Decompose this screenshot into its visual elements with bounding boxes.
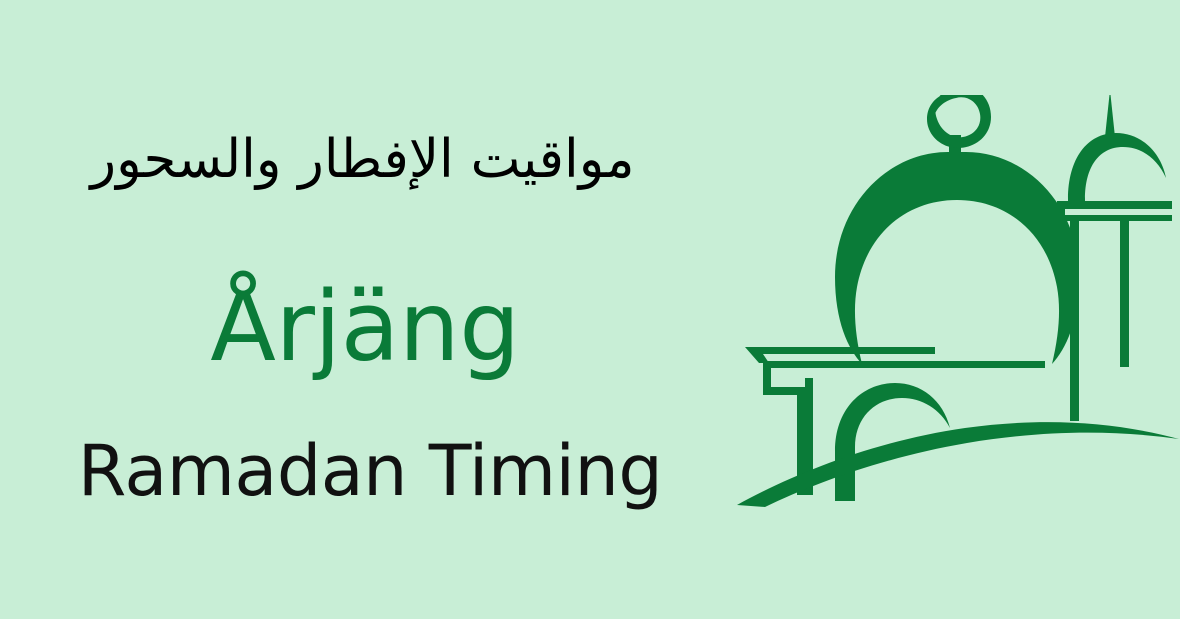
minaret-column-left — [1070, 221, 1079, 421]
arabic-title: مواقيت الإفطار والسحور — [0, 130, 725, 191]
minaret-balcony — [1057, 201, 1172, 221]
mosque-illustration — [735, 95, 1180, 525]
city-name: Årjäng — [0, 277, 730, 378]
ramadan-timing-banner: مواقيت الإفطار والسحور Årjäng Ramadan Ti… — [0, 0, 1180, 619]
roof-upper-line — [745, 347, 935, 363]
minaret-spire — [1105, 95, 1115, 137]
minaret-crescent-top-icon — [1068, 133, 1166, 205]
crescent-finial-icon — [927, 95, 991, 148]
roof-lower-line — [763, 361, 1045, 368]
text-column: مواقيت الإفطار والسحور Årjäng Ramadan Ti… — [0, 0, 740, 619]
page-subtitle: Ramadan Timing — [0, 435, 740, 509]
minaret-column-right — [1120, 221, 1129, 367]
main-dome-icon — [835, 152, 1079, 364]
